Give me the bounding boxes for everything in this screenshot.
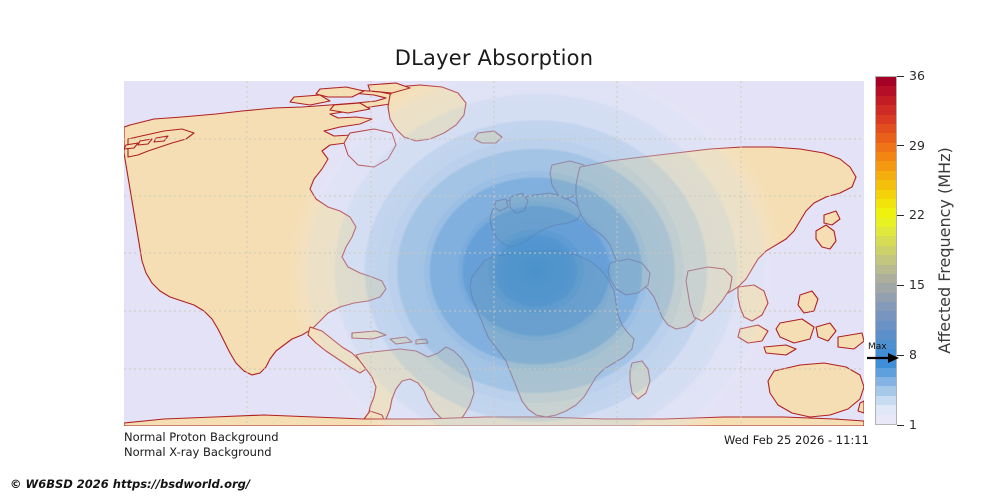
- colorbar-band: [876, 396, 896, 405]
- absorption-ring-5mhz: [388, 139, 684, 403]
- colorbar-band: [876, 236, 896, 245]
- page-title: DLayer Absorption: [124, 46, 864, 70]
- colorbar-band: [876, 115, 896, 124]
- colorbar-band: [876, 293, 896, 302]
- colorbar-band: [876, 302, 896, 311]
- colorbar-band: [876, 255, 896, 264]
- colorbar-band: [876, 340, 896, 349]
- colorbar-band: [876, 377, 896, 386]
- colorbar-tick-label: 29: [909, 140, 925, 153]
- colorbar-tick-label: 22: [909, 209, 925, 222]
- colorbar-band: [876, 368, 896, 377]
- colorbar-band: [876, 96, 896, 105]
- colorbar-band: [876, 358, 896, 367]
- colorbar-band: [876, 274, 896, 283]
- world-map-svg: [124, 81, 864, 426]
- map-plot-area[interactable]: [124, 81, 864, 426]
- colorbar-band: [876, 86, 896, 95]
- timestamp-label: Wed Feb 25 2026 - 11:11: [724, 433, 869, 447]
- colorbar-band: [876, 283, 896, 292]
- colorbar-tick-label: 36: [909, 70, 925, 83]
- colorbar-band: [876, 152, 896, 161]
- colorbar-band: [876, 105, 896, 114]
- colorbar-band: [876, 124, 896, 133]
- colorbar-tick-label: 8: [909, 349, 917, 362]
- colorbar-tick-label: 1: [909, 419, 917, 432]
- colorbar-gradient: [875, 76, 897, 425]
- colorbar-band: [876, 227, 896, 236]
- proton-background-note: Normal Proton Background: [124, 430, 279, 444]
- colorbar-band: [876, 415, 896, 424]
- colorbar-band: [876, 218, 896, 227]
- colorbar-tick-line: [897, 285, 904, 286]
- colorbar-tick-label: 15: [909, 279, 925, 292]
- colorbar-band: [876, 161, 896, 170]
- copyright-label: © W6BSD 2026 https://bsdworld.org/: [10, 477, 250, 491]
- colorbar-tick-line: [897, 355, 904, 356]
- colorbar-band: [876, 246, 896, 255]
- colorbar-band: [876, 208, 896, 217]
- colorbar-band: [876, 180, 896, 189]
- colorbar-tick-line: [897, 425, 904, 426]
- colorbar-band: [876, 405, 896, 414]
- colorbar-band: [876, 321, 896, 330]
- colorbar-band: [876, 386, 896, 395]
- colorbar-band: [876, 77, 896, 86]
- colorbar-tick-line: [897, 215, 904, 216]
- philippines: [798, 291, 818, 313]
- colorbar-band: [876, 311, 896, 320]
- colorbar-band: [876, 199, 896, 208]
- colorbar[interactable]: [875, 76, 897, 425]
- colorbar-axis-label: Affected Frequency (MHz): [932, 76, 958, 425]
- colorbar-tick-line: [897, 145, 904, 146]
- colorbar-band: [876, 143, 896, 152]
- colorbar-band: [876, 190, 896, 199]
- colorbar-band: [876, 349, 896, 358]
- colorbar-band: [876, 330, 896, 339]
- colorbar-band: [876, 265, 896, 274]
- xray-background-note: Normal X-ray Background: [124, 445, 272, 459]
- colorbar-band: [876, 171, 896, 180]
- colorbar-tick-line: [897, 76, 904, 77]
- colorbar-band: [876, 133, 896, 142]
